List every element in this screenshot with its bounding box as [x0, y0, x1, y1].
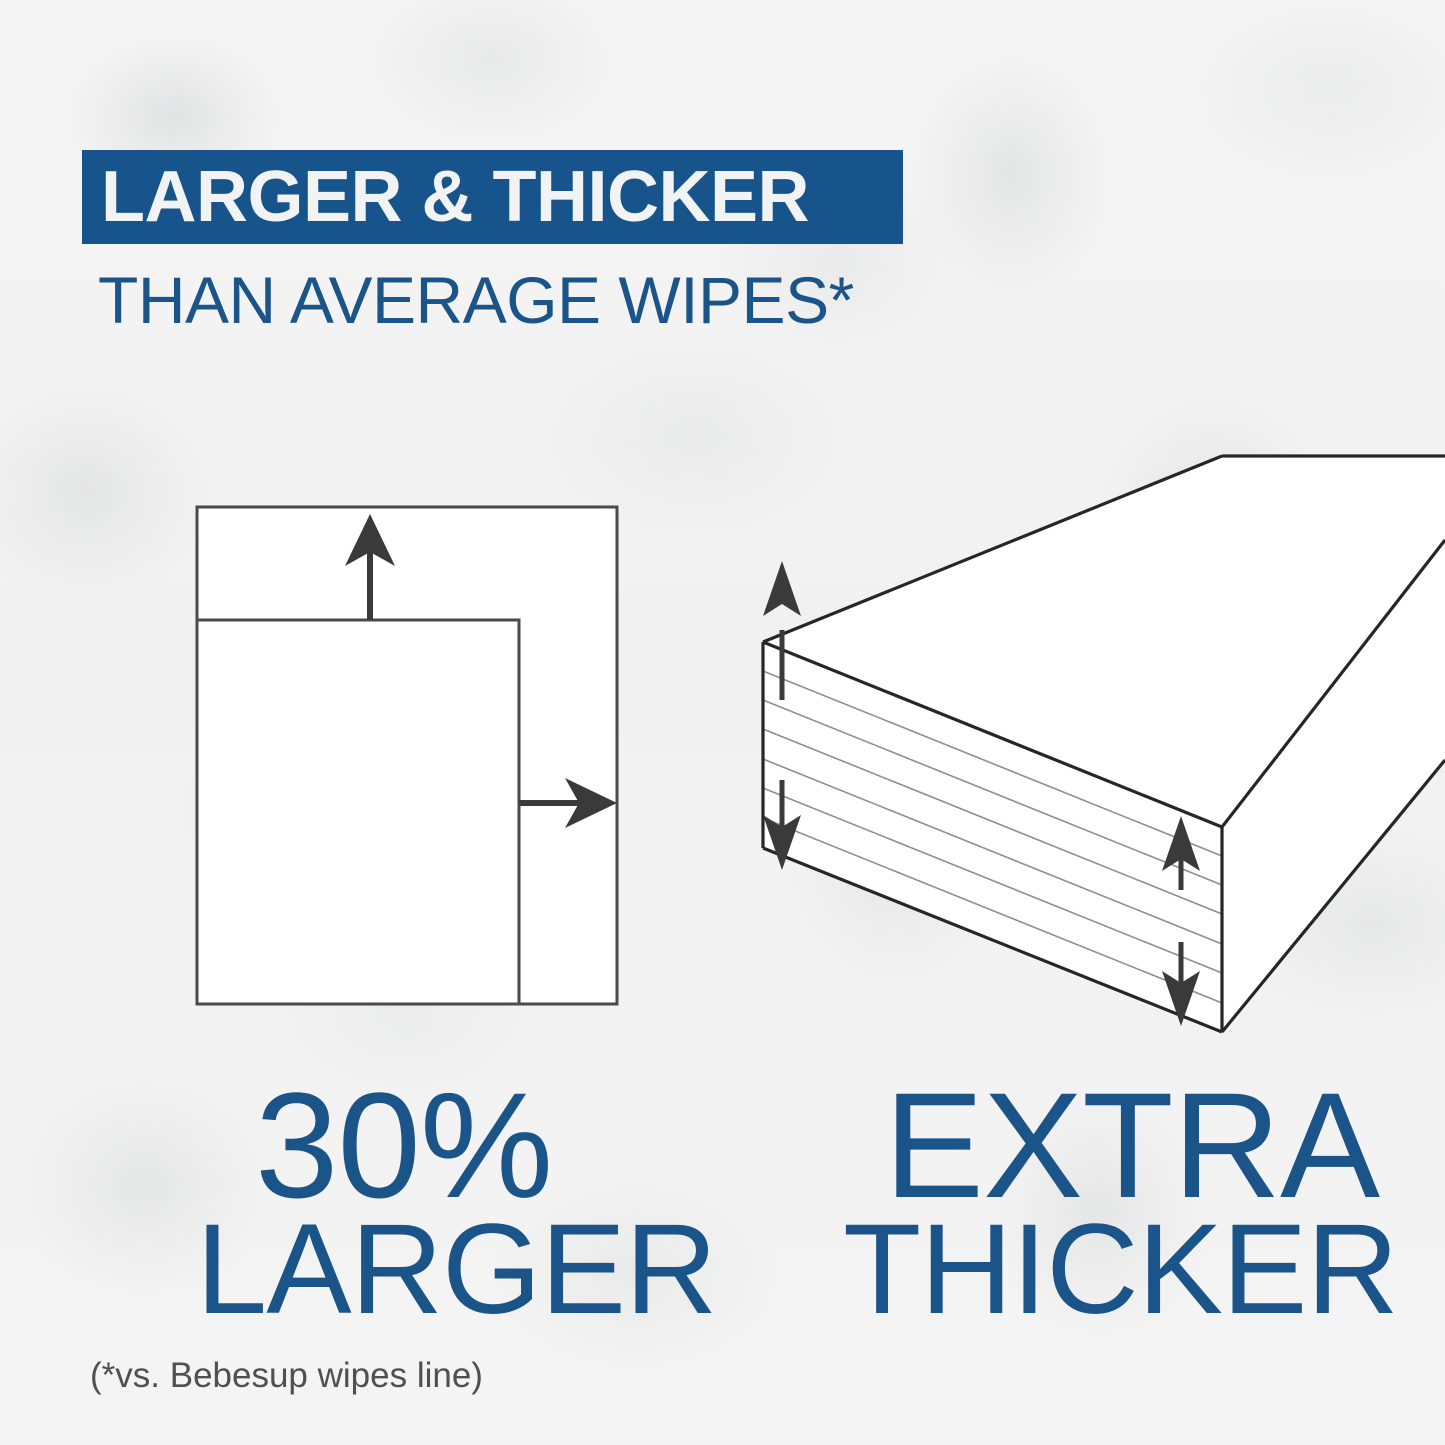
headline-banner-text: LARGER & THICKER	[101, 161, 809, 233]
footnote-text: (*vs. Bebesup wipes line)	[90, 1358, 483, 1393]
size-comparison-diagram	[190, 500, 630, 1015]
infographic-canvas: LARGER & THICKER THAN AVERAGE WIPES*	[0, 0, 1445, 1445]
wipe-stack-3d-diagram	[740, 430, 1445, 1055]
subheadline-text: THAN AVERAGE WIPES*	[98, 267, 854, 333]
average-wipe-outline	[197, 620, 519, 1004]
headline-banner: LARGER & THICKER	[82, 150, 903, 244]
larger-stat-word: LARGER	[196, 1206, 716, 1334]
thicker-stat-word: THICKER	[843, 1206, 1398, 1334]
